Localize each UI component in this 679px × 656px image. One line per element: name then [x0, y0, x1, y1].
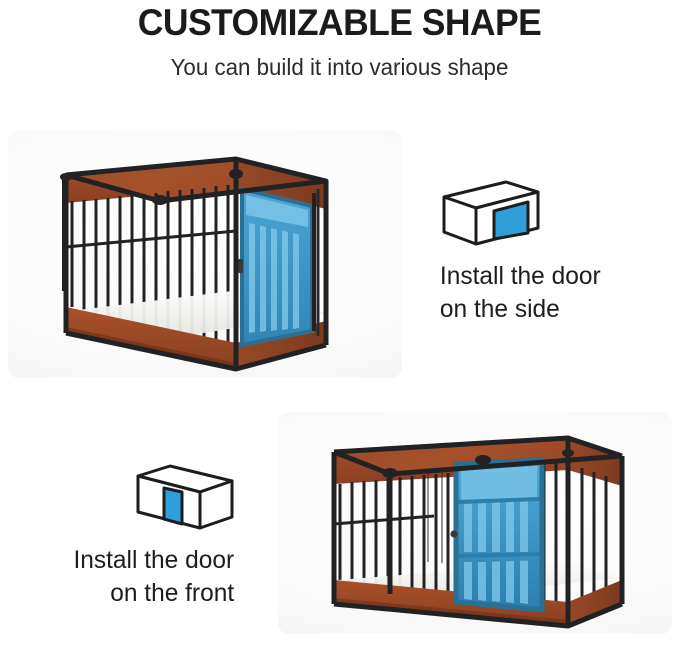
door-highlight — [164, 488, 182, 524]
dog-crate-illustration-front — [278, 412, 672, 634]
option-caption-front: Install the door on the front — [11, 544, 242, 611]
caption-line-2: on the side — [440, 293, 667, 326]
isometric-box-door-side-icon — [440, 178, 542, 251]
isometric-box-door-front-icon — [134, 462, 236, 535]
product-photo-card-door-front — [278, 412, 672, 634]
page-subtitle: You can build it into various shape — [10, 56, 669, 79]
option-caption-side: Install the door on the side — [436, 260, 667, 327]
caption-line-2: on the front — [11, 577, 234, 610]
crate-photo-door-side — [8, 131, 402, 378]
dog-crate-illustration-side — [8, 131, 402, 378]
caption-line-1: Install the door — [11, 544, 234, 577]
option-door-front: Install the door on the front — [6, 462, 242, 611]
blue-door-panel-front — [450, 460, 542, 610]
option-door-side: Install the door on the side — [436, 178, 672, 327]
header: CUSTOMIZABLE SHAPE You can build it into… — [0, 0, 679, 79]
page-title: CUSTOMIZABLE SHAPE — [14, 4, 666, 41]
blue-door-panel-side — [238, 189, 312, 345]
product-photo-card-door-side — [8, 131, 402, 378]
crate-photo-door-front — [278, 412, 672, 634]
caption-line-1: Install the door — [440, 260, 667, 293]
